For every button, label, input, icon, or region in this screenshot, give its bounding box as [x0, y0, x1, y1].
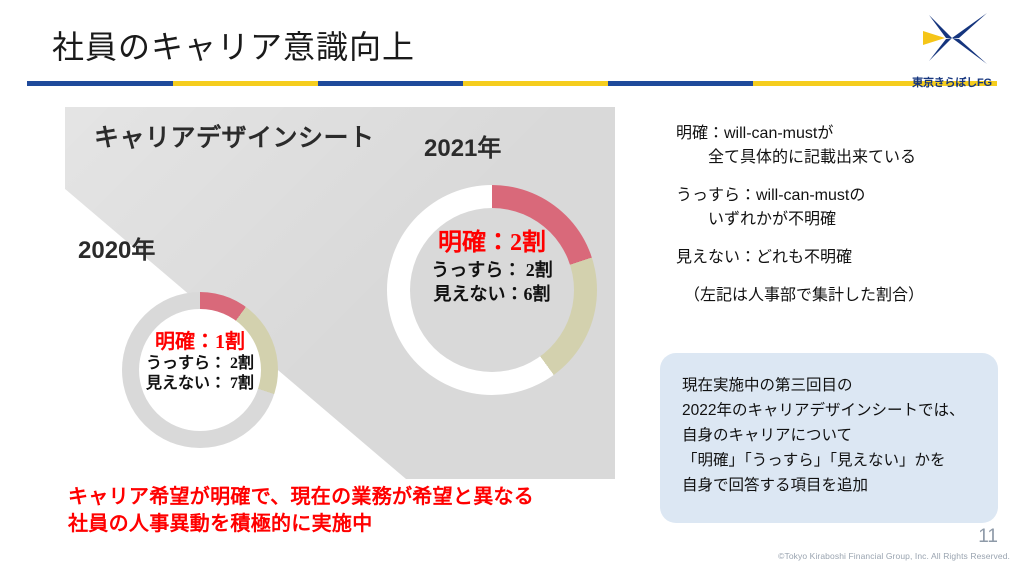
brand-logo-text: 東京きらぼしFG: [912, 74, 992, 90]
donut-label-secondary-2020-1: 見えない： 7割: [122, 374, 278, 394]
kiraboshi-star-icon: [915, 12, 989, 68]
divider-segment-0: [27, 81, 173, 86]
divider-segment-2: [318, 81, 463, 86]
copyright-notice: ©Tokyo Kiraboshi Financial Group, Inc. A…: [778, 551, 1010, 561]
legend-note: （左記は人事部で集計した割合）: [676, 284, 1006, 308]
slide-root: 社員のキャリア意識向上 東京きらぼしFG キャリアデザインシート 2020年 2…: [0, 0, 1024, 576]
page-title: 社員のキャリア意識向上: [52, 22, 415, 68]
divider-segment-4: [608, 81, 753, 86]
red-callout-text: キャリア希望が明確で、現在の業務が希望と異なる 社員の人事異動を積極的に実施中: [68, 484, 534, 538]
donut-labels-2021: 明確：2割 うっすら： 2割 見えない：6割: [387, 228, 597, 306]
chart-title-2021: 2021年: [424, 128, 501, 163]
header-divider: [27, 81, 997, 86]
brand-logo: 東京きらぼしFG: [898, 12, 1006, 90]
legend-definitions: 明確：will-can-mustが 全て具体的に記載出来ている うっすら：wil…: [676, 122, 1006, 308]
panel-heading: キャリアデザインシート: [94, 118, 375, 154]
page-number: 11: [978, 526, 998, 548]
info-callout-text: 現在実施中の第三回目の 2022年のキャリアデザインシートでは、 自身のキャリア…: [682, 373, 986, 498]
donut-label-primary-2020: 明確：1割: [122, 330, 278, 354]
donut-label-primary-2021: 明確：2割: [387, 228, 597, 258]
divider-segment-3: [463, 81, 608, 86]
legend-entry-mienai: 見えない：どれも不明確: [676, 246, 1006, 270]
legend-entry-ussura: うっすら：will-can-mustの いずれかが不明確: [676, 184, 1006, 232]
chart-title-2020: 2020年: [78, 230, 155, 265]
info-callout-box: 現在実施中の第三回目の 2022年のキャリアデザインシートでは、 自身のキャリア…: [660, 353, 998, 523]
legend-entry-meikaku: 明確：will-can-mustが 全て具体的に記載出来ている: [676, 122, 1006, 170]
donut-label-secondary-2021-1: 見えない：6割: [387, 282, 597, 306]
donut-label-secondary-2021-0: うっすら： 2割: [387, 258, 597, 282]
donut-labels-2020: 明確：1割 うっすら： 2割 見えない： 7割: [122, 330, 278, 394]
donut-label-secondary-2020-0: うっすら： 2割: [122, 354, 278, 374]
divider-segment-1: [173, 81, 318, 86]
